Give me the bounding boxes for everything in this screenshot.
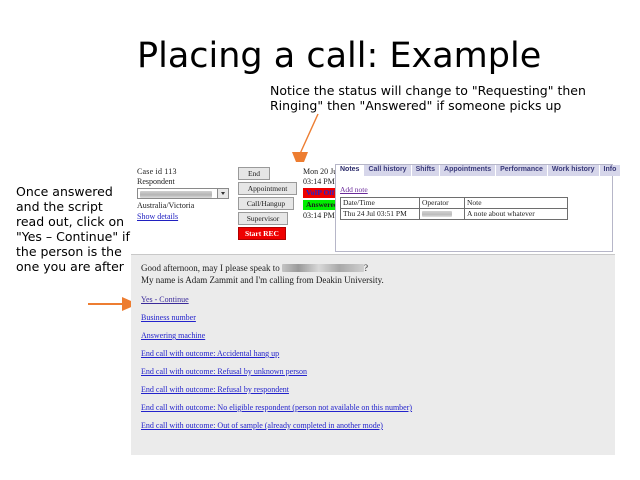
end-button[interactable]: End bbox=[238, 167, 270, 180]
page-title: Placing a call: Example bbox=[137, 36, 541, 76]
case-info-block: Case id 113 Respondent Australia/Victori… bbox=[137, 167, 235, 222]
link-end-call-refusal-unknown-person[interactable]: End call with outcome: Refusal by unknow… bbox=[141, 367, 601, 377]
respondent-label: Respondent bbox=[137, 177, 235, 187]
info-tab-panel: Notes Call history Shifts Appointments P… bbox=[335, 164, 613, 252]
column-header-note: Note bbox=[465, 198, 568, 209]
show-details-link[interactable]: Show details bbox=[137, 212, 235, 222]
respondent-select[interactable] bbox=[137, 188, 229, 199]
redacted-respondent-name-inline bbox=[282, 264, 364, 272]
redacted-respondent-name bbox=[140, 191, 212, 198]
script-text: Good afternoon, may I please speak to ? … bbox=[141, 262, 384, 286]
redacted-operator-name bbox=[422, 211, 452, 217]
chevron-down-icon[interactable] bbox=[217, 189, 228, 198]
supervisor-button[interactable]: Supervisor bbox=[238, 212, 288, 225]
tab-work-history[interactable]: Work history bbox=[548, 165, 600, 176]
tab-appointments[interactable]: Appointments bbox=[440, 165, 496, 176]
call-hangup-button[interactable]: Call/Hangup bbox=[238, 197, 294, 210]
script-line-2: My name is Adam Zammit and I'm calling f… bbox=[141, 274, 384, 286]
status-badge-voip: VoIP Off bbox=[303, 188, 337, 198]
link-end-call-no-eligible-respondent[interactable]: End call with outcome: No eligible respo… bbox=[141, 403, 601, 413]
tab-shifts[interactable]: Shifts bbox=[412, 165, 440, 176]
cell-note: A note about whatever bbox=[465, 209, 568, 220]
callout-instruction-note: Once answered and the script read out, c… bbox=[16, 184, 134, 274]
table-header-row: Date/Time Operator Note bbox=[341, 198, 568, 209]
script-line-1-before: Good afternoon, may I please speak to bbox=[141, 263, 282, 273]
table-row[interactable]: Thu 24 Jul 03:51 PM A note about whateve… bbox=[341, 209, 568, 220]
case-id-label: Case id 113 bbox=[137, 167, 235, 177]
appointment-button[interactable]: Appointment bbox=[238, 182, 297, 195]
column-header-datetime: Date/Time bbox=[341, 198, 420, 209]
script-outcome-links: Yes - Continue Business number Answering… bbox=[141, 295, 601, 439]
column-header-operator: Operator bbox=[420, 198, 465, 209]
link-end-call-out-of-sample[interactable]: End call with outcome: Out of sample (al… bbox=[141, 421, 601, 431]
app-header-panel: Case id 113 Respondent Australia/Victori… bbox=[131, 162, 615, 255]
cell-datetime: Thu 24 Jul 03:51 PM bbox=[341, 209, 420, 220]
link-yes-continue[interactable]: Yes - Continue bbox=[141, 295, 601, 305]
script-panel: Good afternoon, may I please speak to ? … bbox=[131, 255, 615, 455]
script-line-1: Good afternoon, may I please speak to ? bbox=[141, 262, 384, 274]
notes-table: Date/Time Operator Note Thu 24 Jul 03:51… bbox=[340, 197, 568, 220]
tab-strip: Notes Call history Shifts Appointments P… bbox=[336, 165, 612, 176]
link-end-call-refusal-respondent[interactable]: End call with outcome: Refusal by respon… bbox=[141, 385, 601, 395]
tab-performance[interactable]: Performance bbox=[496, 165, 548, 176]
script-line-1-after: ? bbox=[364, 263, 368, 273]
call-action-buttons: End Appointment Call/Hangup Supervisor S… bbox=[238, 167, 300, 242]
link-answering-machine[interactable]: Answering machine bbox=[141, 331, 601, 341]
add-note-link[interactable]: Add note bbox=[340, 185, 368, 194]
tab-notes[interactable]: Notes bbox=[336, 165, 364, 176]
start-rec-button[interactable]: Start REC bbox=[238, 227, 286, 240]
tab-info[interactable]: Info bbox=[600, 165, 622, 176]
embedded-application-screenshot: Case id 113 Respondent Australia/Victori… bbox=[131, 162, 615, 455]
callout-status-note: Notice the status will change to "Reques… bbox=[270, 83, 630, 113]
cell-operator bbox=[420, 209, 465, 220]
timezone-label: Australia/Victoria bbox=[137, 201, 235, 211]
notes-tab-body: Add note Date/Time Operator Note Thu 24 … bbox=[336, 176, 612, 220]
tab-call-history[interactable]: Call history bbox=[364, 165, 411, 176]
link-business-number[interactable]: Business number bbox=[141, 313, 601, 323]
link-end-call-accidental-hang-up[interactable]: End call with outcome: Accidental hang u… bbox=[141, 349, 601, 359]
